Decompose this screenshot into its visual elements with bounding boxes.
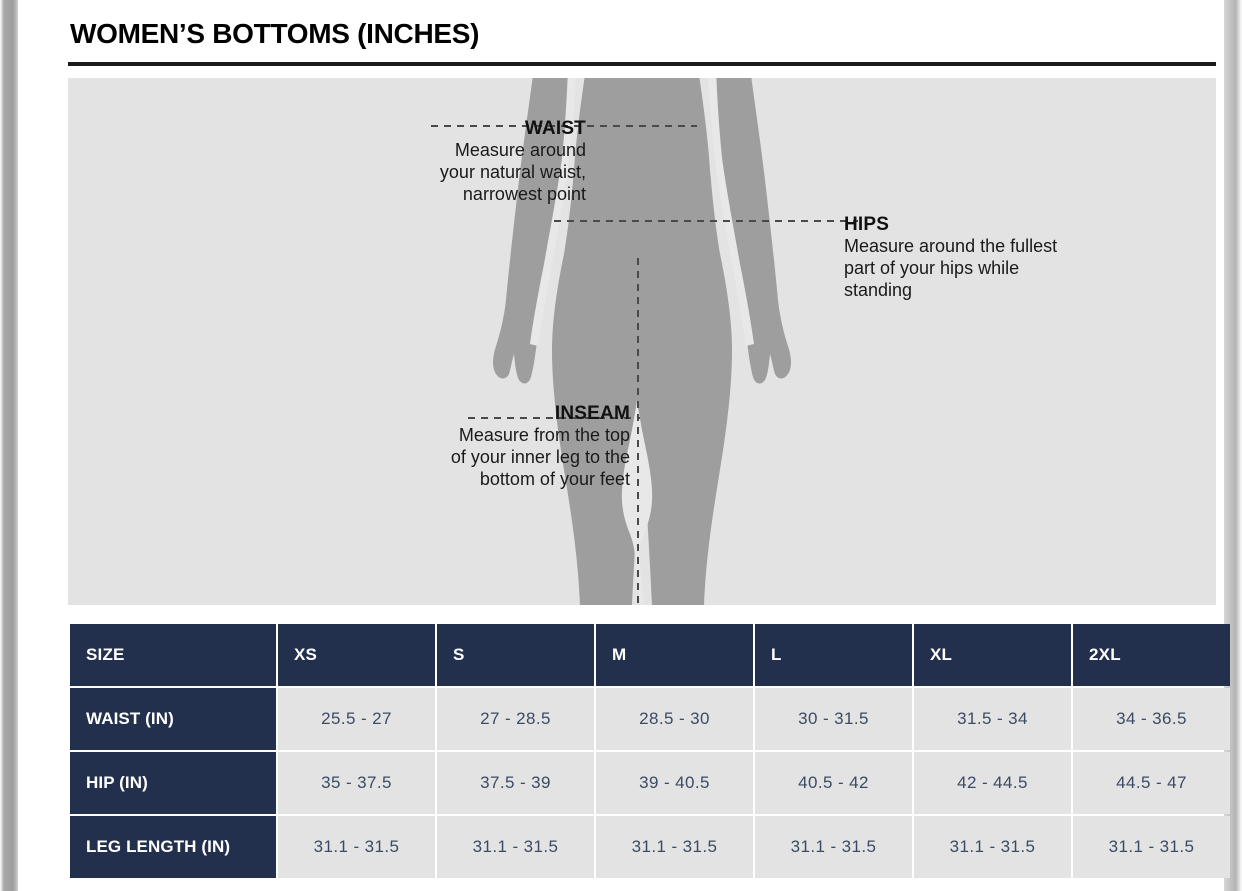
page-title: WOMEN’S BOTTOMS (INCHES) <box>70 18 479 50</box>
column-header-m: M <box>596 624 753 686</box>
measurement-illustration-panel: WAIST Measure around your natural waist,… <box>68 78 1216 605</box>
cell-waist-2xl: 34 - 36.5 <box>1073 688 1230 750</box>
size-table: SIZE XS S M L XL 2XL WAIST (IN) 25.5 - 2… <box>68 622 1232 880</box>
page-gutter-left <box>0 0 18 891</box>
column-header-size: SIZE <box>70 624 276 686</box>
column-header-s: S <box>437 624 594 686</box>
cell-waist-l: 30 - 31.5 <box>755 688 912 750</box>
table-row: WAIST (IN) 25.5 - 27 27 - 28.5 28.5 - 30… <box>70 688 1230 750</box>
table-row: LEG LENGTH (IN) 31.1 - 31.5 31.1 - 31.5 … <box>70 816 1230 878</box>
cell-hip-m: 39 - 40.5 <box>596 752 753 814</box>
table-row: HIP (IN) 35 - 37.5 37.5 - 39 39 - 40.5 4… <box>70 752 1230 814</box>
cell-hip-2xl: 44.5 - 47 <box>1073 752 1230 814</box>
column-header-2xl: 2XL <box>1073 624 1230 686</box>
cell-leg-length-m: 31.1 - 31.5 <box>596 816 753 878</box>
size-table-body: WAIST (IN) 25.5 - 27 27 - 28.5 28.5 - 30… <box>70 688 1230 878</box>
callout-hips-description: Measure around the fullest part of your … <box>844 236 1174 302</box>
callout-inseam-description: Measure from the top of your inner leg t… <box>236 425 630 491</box>
cell-leg-length-xl: 31.1 - 31.5 <box>914 816 1071 878</box>
cell-leg-length-s: 31.1 - 31.5 <box>437 816 594 878</box>
column-header-l: L <box>755 624 912 686</box>
chart-sheet: WOMEN’S BOTTOMS (INCHES) <box>18 0 1224 891</box>
cell-waist-s: 27 - 28.5 <box>437 688 594 750</box>
row-header-leg-length: LEG LENGTH (IN) <box>70 816 276 878</box>
callout-waist: WAIST Measure around your natural waist,… <box>236 118 586 206</box>
table-header-row: SIZE XS S M L XL 2XL <box>70 624 1230 686</box>
callout-hips: HIPS Measure around the fullest part of … <box>844 214 1174 302</box>
cell-waist-xs: 25.5 - 27 <box>278 688 435 750</box>
title-divider <box>68 62 1216 66</box>
column-header-xl: XL <box>914 624 1071 686</box>
column-header-xs: XS <box>278 624 435 686</box>
cell-leg-length-xs: 31.1 - 31.5 <box>278 816 435 878</box>
cell-waist-m: 28.5 - 30 <box>596 688 753 750</box>
callout-inseam: INSEAM Measure from the top of your inne… <box>236 403 630 491</box>
callout-inseam-title: INSEAM <box>236 403 630 425</box>
cell-hip-s: 37.5 - 39 <box>437 752 594 814</box>
cell-waist-xl: 31.5 - 34 <box>914 688 1071 750</box>
row-header-waist: WAIST (IN) <box>70 688 276 750</box>
cell-hip-xs: 35 - 37.5 <box>278 752 435 814</box>
cell-hip-xl: 42 - 44.5 <box>914 752 1071 814</box>
callout-waist-description: Measure around your natural waist, narro… <box>236 140 586 206</box>
cell-leg-length-2xl: 31.1 - 31.5 <box>1073 816 1230 878</box>
callout-hips-title: HIPS <box>844 214 1174 236</box>
size-table-header: SIZE XS S M L XL 2XL <box>70 624 1230 686</box>
callout-waist-title: WAIST <box>236 118 586 140</box>
cell-leg-length-l: 31.1 - 31.5 <box>755 816 912 878</box>
row-header-hip: HIP (IN) <box>70 752 276 814</box>
cell-hip-l: 40.5 - 42 <box>755 752 912 814</box>
size-chart-page: WOMEN’S BOTTOMS (INCHES) <box>0 0 1242 891</box>
